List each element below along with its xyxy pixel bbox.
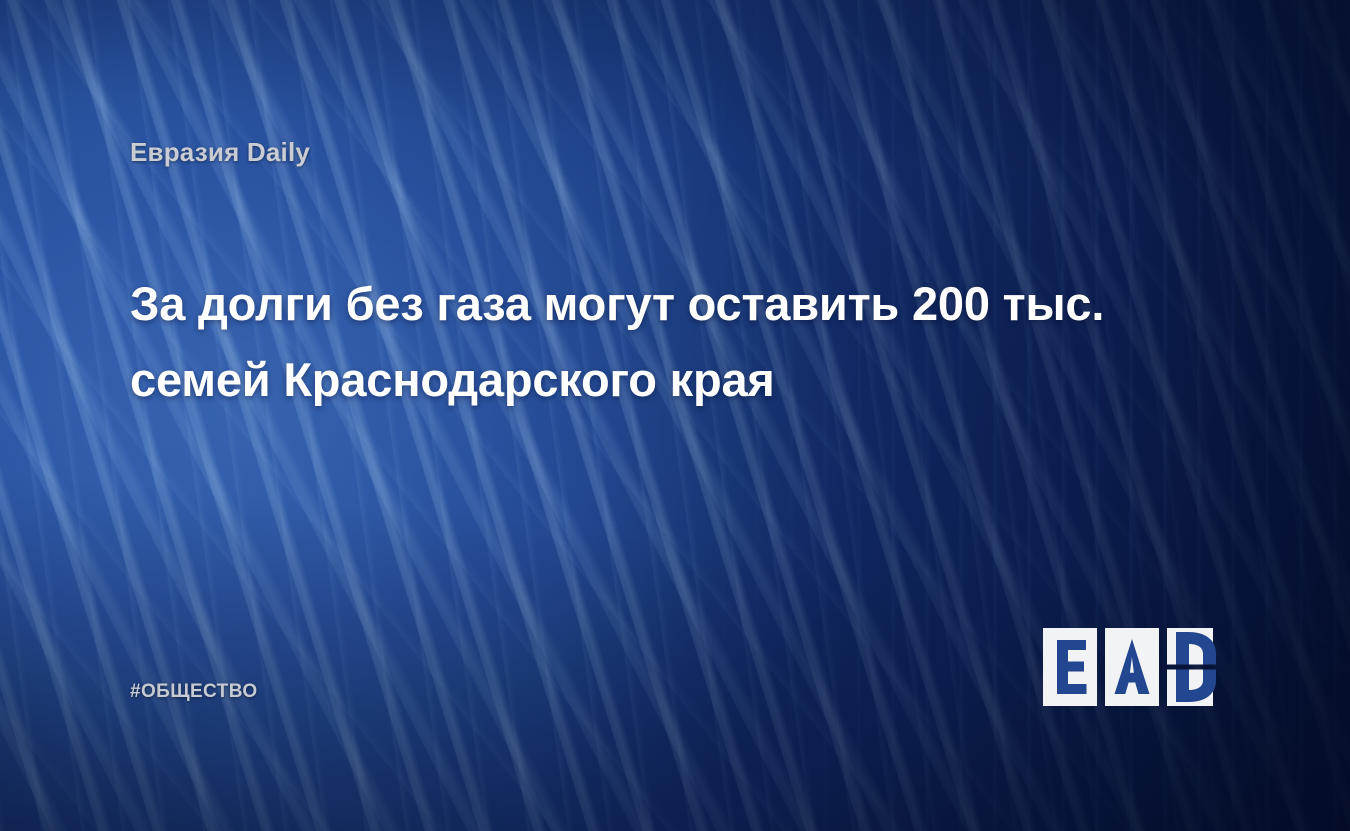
category-tag[interactable]: #ОБЩЕСТВО: [130, 681, 258, 703]
headline: За долги без газа могут оставить 200 тыс…: [130, 266, 1140, 418]
eadaily-logo-graphic: [1043, 628, 1221, 706]
logo-letter-e: [1057, 640, 1087, 694]
card-content: Евразия Daily За долги без газа могут ос…: [0, 0, 1350, 831]
eadaily-logo[interactable]: [1043, 628, 1221, 706]
news-card: Евразия Daily За долги без газа могут ос…: [0, 0, 1350, 831]
brand-name: Евразия Daily: [130, 137, 310, 168]
